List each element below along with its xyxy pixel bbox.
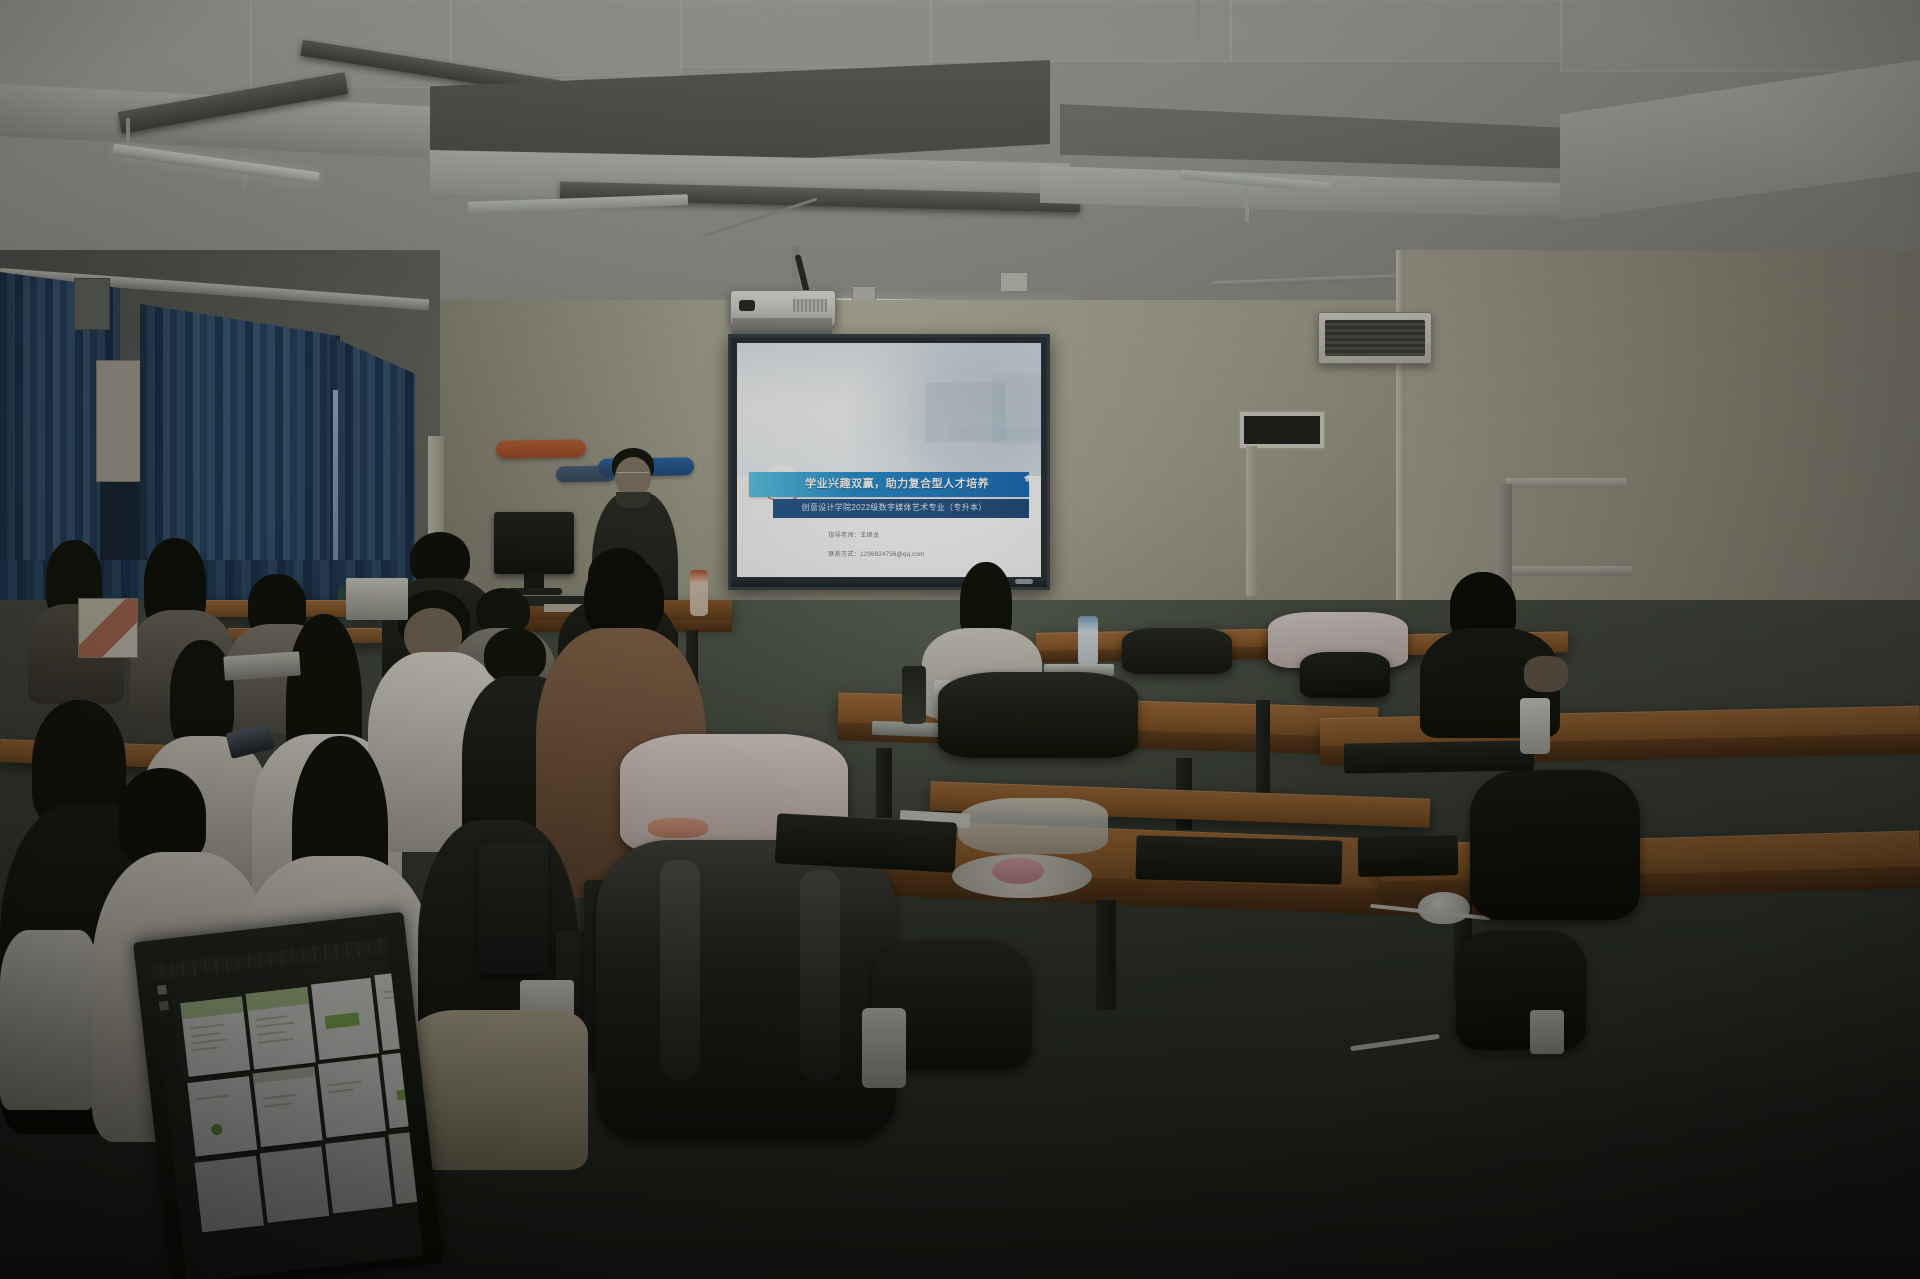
backpack-strap: [660, 860, 700, 1080]
graduation-cap-icon: [1022, 474, 1035, 483]
light-pendant: [1196, 0, 1200, 42]
orange-wall-plaque: [496, 439, 586, 459]
ceiling-junction-box: [1000, 272, 1028, 292]
backpack: [1122, 628, 1232, 674]
closed-laptop: [775, 813, 957, 872]
artboard-card[interactable]: [311, 978, 379, 1060]
tote-bag-strap: [648, 818, 708, 838]
projector-vent: [793, 299, 827, 312]
student-arm: [1524, 656, 1568, 692]
student-right-1: [922, 562, 1042, 682]
slide-banner-title: 学业兴趣双赢，助力复合型人才培养: [805, 479, 989, 490]
water-bottle: [1078, 616, 1098, 666]
artboard-card[interactable]: [253, 1067, 323, 1148]
desk-leg: [876, 748, 892, 818]
presenter-glasses: [617, 472, 649, 478]
desk-leg: [1096, 900, 1116, 1010]
artboard-card[interactable]: [260, 1146, 330, 1223]
closed-laptop: [1344, 740, 1534, 773]
artboard-card[interactable]: [325, 1137, 393, 1213]
tool-icon[interactable]: [157, 985, 167, 995]
slide-subtitle-text: 创意设计学院2022级数字媒体艺术专业（专升本）: [802, 504, 987, 512]
classroom-photo: 学业兴趣双赢，助力复合型人才培养 创意设计学院2022级数字媒体艺术专业（专升本…: [0, 0, 1920, 1279]
presenter-collar: [616, 492, 650, 508]
backpack: [938, 672, 1138, 758]
slide-subtitle-bar: 创意设计学院2022级数字媒体艺术专业（专升本）: [773, 499, 1028, 519]
artboard-card[interactable]: [194, 1156, 264, 1233]
artboard-card[interactable]: [180, 996, 250, 1077]
backpack: [1300, 652, 1390, 698]
tote-bag: [1470, 770, 1640, 920]
pink-object: [992, 858, 1044, 884]
wall-pillar: [1246, 446, 1257, 596]
computer-mouse[interactable]: [1418, 892, 1470, 924]
artboard-card[interactable]: [187, 1076, 257, 1157]
design-software-window[interactable]: [152, 926, 424, 1279]
artboard-card[interactable]: [246, 987, 316, 1070]
thermos-flask: [902, 666, 926, 724]
artboard-grid[interactable]: [169, 953, 423, 1279]
laptop-screen[interactable]: [151, 938, 424, 1279]
slide-detail-line-2: 联系方式：1296824756@qq.com: [828, 549, 924, 558]
slide-detail-line-1: 指导老师：王继龙: [828, 530, 879, 539]
tote-bag: [1456, 930, 1586, 1050]
screen-surface: 学业兴趣双赢，助力复合型人才培养 创意设计学院2022级数字媒体艺术专业（专升本…: [737, 343, 1041, 577]
slide-photo: [737, 343, 1041, 476]
student-right-2: [1420, 572, 1560, 712]
presentation-slide: 学业兴趣双赢，助力复合型人才培养 创意设计学院2022级数字媒体艺术专业（专升本…: [737, 343, 1041, 577]
air-conditioner-unit: [1318, 312, 1432, 364]
wall-mounted-box: [96, 360, 144, 482]
closed-laptop: [1135, 835, 1342, 884]
backpack: [596, 840, 896, 1140]
wall-speaker: [74, 278, 110, 330]
artboard-card[interactable]: [318, 1057, 386, 1137]
projection-screen[interactable]: 学业兴趣双赢，助力复合型人才培养 创意设计学院2022级数字媒体艺术专业（专升本…: [728, 334, 1050, 590]
projector-lens: [739, 300, 755, 311]
wall-shelf: [1506, 478, 1626, 488]
poster-board: [78, 598, 138, 658]
wall-display-panel: [1238, 410, 1326, 450]
student-hair: [118, 768, 206, 864]
tool-icon[interactable]: [159, 1001, 169, 1011]
white-tumbler: [1530, 1010, 1564, 1054]
chair[interactable]: [478, 844, 548, 974]
white-tumbler: [1520, 698, 1550, 754]
open-laptop: [346, 578, 408, 620]
closed-laptop: [1358, 835, 1459, 877]
student-sleeve: [0, 930, 96, 1110]
slide-banner: 学业兴趣双赢，助力复合型人才培养: [749, 472, 1029, 498]
plastic-bag: [958, 798, 1108, 854]
light-pendant: [1245, 188, 1249, 222]
white-bottle: [862, 1008, 906, 1088]
backpack-strap: [800, 870, 840, 1080]
